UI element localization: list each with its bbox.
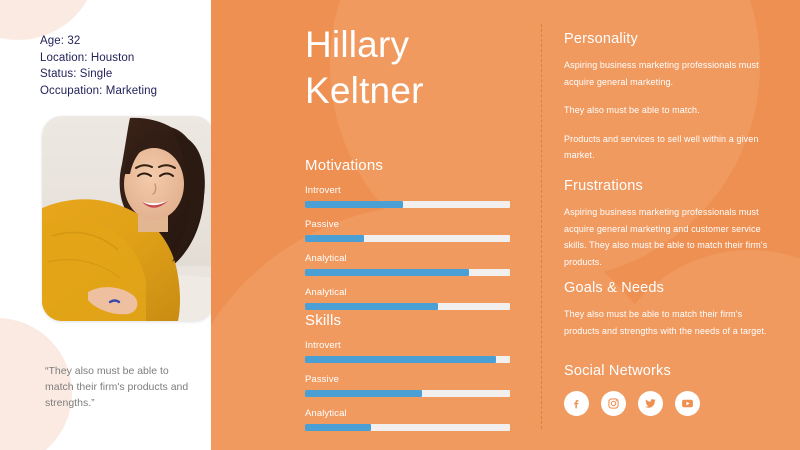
persona-name-first: Hillary	[305, 24, 409, 65]
skill-bar-fill	[305, 424, 371, 431]
persona-name: Hillary Keltner	[305, 22, 535, 114]
profile-meta-occupation: Occupation: Marketing	[40, 83, 157, 100]
left-panel: Age: 32 Location: Houston Status: Single…	[0, 0, 211, 450]
motivation-bar-fill	[305, 201, 403, 208]
skill-bar-row: Passive	[305, 374, 512, 397]
skill-bar-track	[305, 390, 510, 397]
motivation-bar-fill	[305, 269, 469, 276]
motivation-bar-label: Passive	[305, 219, 512, 231]
skill-bar-row: Introvert	[305, 340, 512, 363]
personality-paragraph: They also must be able to match.	[564, 102, 769, 119]
twitter-icon[interactable]	[638, 391, 663, 416]
skills-section: Skills Introvert Passive Analytical	[305, 312, 512, 442]
profile-meta-status: Status: Single	[40, 66, 157, 83]
vertical-dashed-divider	[541, 24, 542, 429]
goals-paragraph: They also must be able to match their fi…	[564, 306, 769, 339]
motivation-bar-label: Analytical	[305, 253, 512, 265]
motivation-bar-fill	[305, 235, 364, 242]
skill-bar-track	[305, 356, 510, 363]
profile-meta-age: Age: 32	[40, 33, 157, 50]
social-networks-title: Social Networks	[564, 363, 769, 379]
persona-photo	[42, 116, 211, 321]
frustrations-title: Frustrations	[564, 178, 769, 194]
youtube-icon[interactable]	[675, 391, 700, 416]
skill-bar-fill	[305, 390, 422, 397]
skill-bar-label: Analytical	[305, 408, 512, 420]
personality-section: Personality Aspiring business marketing …	[564, 31, 769, 164]
skill-bar-fill	[305, 356, 496, 363]
personality-paragraph: Aspiring business marketing professional…	[564, 57, 769, 90]
motivation-bar-track	[305, 269, 510, 276]
persona-quote: “They also must be able to match their f…	[45, 363, 190, 411]
social-networks-section: Social Networks	[564, 363, 769, 416]
goals-section: Goals & Needs They also must be able to …	[564, 280, 769, 339]
personality-title: Personality	[564, 31, 769, 47]
skill-bar-label: Introvert	[305, 340, 512, 352]
motivation-bar-row: Analytical	[305, 253, 512, 276]
motivation-bar-row: Introvert	[305, 185, 512, 208]
motivation-bar-fill	[305, 303, 438, 310]
profile-meta-location: Location: Houston	[40, 50, 157, 67]
motivation-bar-track	[305, 235, 510, 242]
skills-title: Skills	[305, 312, 512, 329]
motivation-bar-track	[305, 303, 510, 310]
motivation-bar-row: Analytical	[305, 287, 512, 310]
right-column: Personality Aspiring business marketing …	[564, 0, 779, 450]
motivations-title: Motivations	[305, 157, 512, 174]
profile-meta-list: Age: 32 Location: Houston Status: Single…	[40, 33, 157, 99]
motivations-section: Motivations Introvert Passive Analytical	[305, 157, 512, 321]
frustrations-section: Frustrations Aspiring business marketing…	[564, 178, 769, 270]
skill-bar-label: Passive	[305, 374, 512, 386]
motivation-bar-track	[305, 201, 510, 208]
persona-name-last: Keltner	[305, 70, 424, 111]
instagram-icon[interactable]	[601, 391, 626, 416]
facebook-icon[interactable]	[564, 391, 589, 416]
personality-paragraph: Products and services to sell well withi…	[564, 131, 769, 164]
skill-bar-track	[305, 424, 510, 431]
motivation-bar-row: Passive	[305, 219, 512, 242]
social-icon-list	[564, 391, 769, 416]
persona-card: Age: 32 Location: Houston Status: Single…	[0, 0, 800, 450]
motivation-bar-label: Analytical	[305, 287, 512, 299]
goals-title: Goals & Needs	[564, 280, 769, 296]
frustrations-paragraph: Aspiring business marketing professional…	[564, 204, 769, 270]
middle-column: Hillary Keltner Motivations Introvert Pa…	[305, 0, 530, 450]
skill-bar-row: Analytical	[305, 408, 512, 431]
motivation-bar-label: Introvert	[305, 185, 512, 197]
